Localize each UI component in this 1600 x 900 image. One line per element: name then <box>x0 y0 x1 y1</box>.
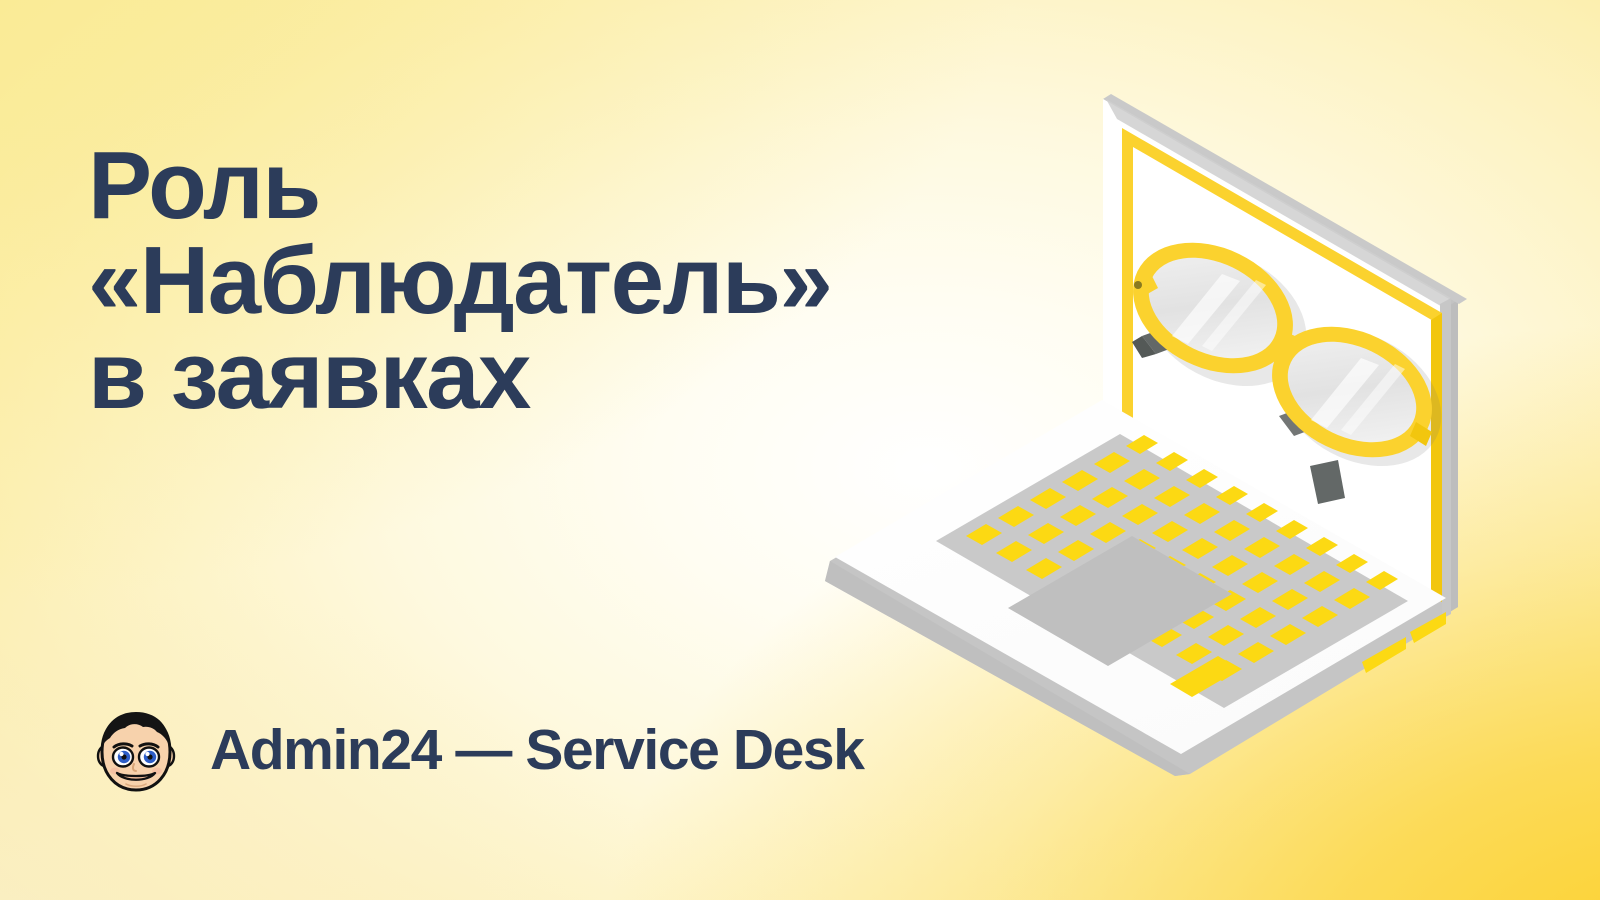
brand-name-label: Admin24 — Service Desk <box>210 719 864 781</box>
cartoon-face-avatar-icon <box>88 702 184 798</box>
promo-banner: Роль «Наблюдатель» в заявках <box>0 0 1600 900</box>
isometric-laptop-illustration <box>770 36 1600 866</box>
brand-lockup: Admin24 — Service Desk <box>88 702 864 798</box>
